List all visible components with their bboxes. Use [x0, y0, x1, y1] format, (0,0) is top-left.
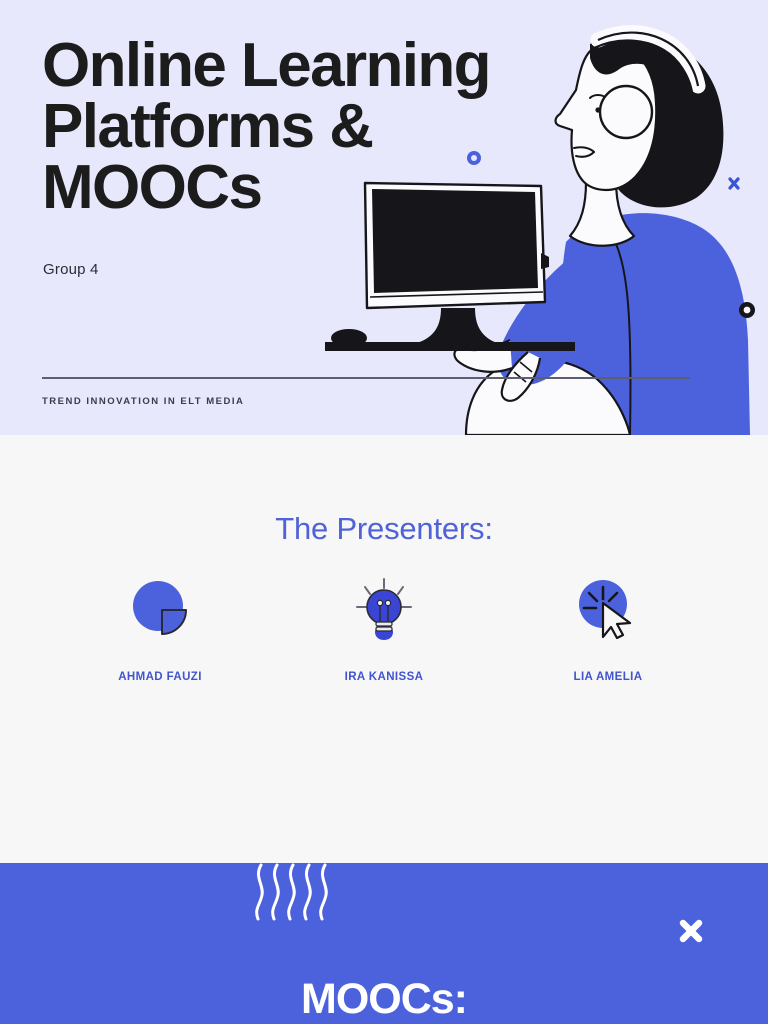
presenters-slide: The Presenters: AHMAD FAUZI [0, 435, 768, 863]
list-item[interactable]: LIA AMELIA [528, 575, 688, 683]
presenter-name: IRA KANISSA [345, 671, 424, 683]
hero-subtitle: Group 4 [43, 261, 99, 278]
presenter-name: LIA AMELIA [574, 671, 643, 683]
hero-footer-text: TREND INNOVATION IN ELT MEDIA [42, 396, 244, 407]
wavy-lines-decoration-icon [252, 863, 338, 925]
presenter-name: AHMAD FAUZI [118, 671, 202, 683]
presentation-page: Online Learning Platforms & MOOCs Group … [0, 0, 768, 1024]
presenters-heading: The Presenters: [0, 511, 768, 547]
mooc-heading: MOOCs: [0, 975, 768, 1024]
list-item[interactable]: IRA KANISSA [304, 575, 464, 683]
cursor-click-icon [573, 575, 643, 645]
hero-slide: Online Learning Platforms & MOOCs Group … [0, 0, 768, 435]
presenters-list: AHMAD FAUZI [0, 575, 768, 683]
list-item[interactable]: AHMAD FAUZI [80, 575, 240, 683]
page-title: Online Learning Platforms & MOOCs [42, 36, 602, 218]
black-ring-dot-icon [739, 302, 755, 318]
white-x-mark-icon [675, 915, 707, 947]
blue-x-mark-icon [730, 179, 738, 188]
pie-chart-icon [125, 575, 195, 645]
hero-divider [42, 377, 690, 379]
lightbulb-idea-icon [349, 575, 419, 645]
